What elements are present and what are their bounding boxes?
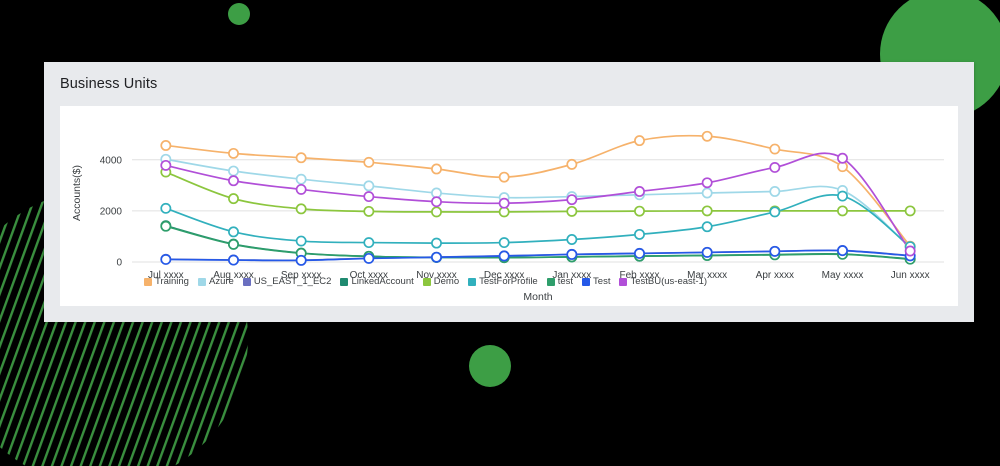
data-point-marker[interactable] xyxy=(567,207,576,216)
green-dot-top-icon xyxy=(228,3,250,25)
data-point-marker[interactable] xyxy=(297,256,306,265)
data-point-marker[interactable] xyxy=(500,199,509,208)
data-point-marker[interactable] xyxy=(770,247,779,256)
legend-label: LinkedAccount xyxy=(351,276,413,288)
data-point-marker[interactable] xyxy=(432,164,441,173)
data-point-marker[interactable] xyxy=(432,188,441,197)
legend-label: Demo xyxy=(434,276,459,288)
data-point-marker[interactable] xyxy=(161,204,170,213)
page-title: Business Units xyxy=(60,76,157,92)
legend-swatch-icon xyxy=(144,278,152,286)
legend-label: TestForProfile xyxy=(479,276,538,288)
legend-item[interactable]: LinkedAccount xyxy=(340,276,413,288)
data-point-marker[interactable] xyxy=(635,249,644,258)
series-line xyxy=(166,153,910,251)
green-dot-bottom-icon xyxy=(469,345,511,387)
data-point-marker[interactable] xyxy=(906,206,915,215)
data-point-marker[interactable] xyxy=(364,181,373,190)
legend-label: Azure xyxy=(209,276,234,288)
data-point-marker[interactable] xyxy=(635,136,644,145)
data-point-marker[interactable] xyxy=(906,246,915,255)
legend-item[interactable]: TestForProfile xyxy=(468,276,538,288)
legend-swatch-icon xyxy=(198,278,206,286)
data-point-marker[interactable] xyxy=(432,197,441,206)
series-line xyxy=(166,172,910,212)
data-point-marker[interactable] xyxy=(297,153,306,162)
legend-swatch-icon xyxy=(547,278,555,286)
series-line xyxy=(166,250,910,260)
legend-item[interactable]: US_EAST_1_EC2 xyxy=(243,276,332,288)
data-point-marker[interactable] xyxy=(770,163,779,172)
y-axis-tick-label: 2000 xyxy=(100,206,123,217)
business-units-card: Business Units 020004000Accounts($)Jul x… xyxy=(44,62,974,322)
legend-swatch-icon xyxy=(423,278,431,286)
data-point-marker[interactable] xyxy=(703,178,712,187)
data-point-marker[interactable] xyxy=(567,195,576,204)
data-point-marker[interactable] xyxy=(703,188,712,197)
data-point-marker[interactable] xyxy=(838,191,847,200)
data-point-marker[interactable] xyxy=(770,187,779,196)
data-point-marker[interactable] xyxy=(770,144,779,153)
data-point-marker[interactable] xyxy=(297,204,306,213)
data-point-marker[interactable] xyxy=(770,207,779,216)
data-point-marker[interactable] xyxy=(229,166,238,175)
legend-label: Test xyxy=(593,276,610,288)
data-point-marker[interactable] xyxy=(229,227,238,236)
data-point-marker[interactable] xyxy=(703,248,712,257)
data-point-marker[interactable] xyxy=(567,235,576,244)
legend-item[interactable]: Azure xyxy=(198,276,234,288)
data-point-marker[interactable] xyxy=(567,160,576,169)
data-point-marker[interactable] xyxy=(297,236,306,245)
legend-swatch-icon xyxy=(243,278,251,286)
legend-swatch-icon xyxy=(340,278,348,286)
data-point-marker[interactable] xyxy=(161,141,170,150)
y-axis-title: Accounts($) xyxy=(71,165,83,221)
data-point-marker[interactable] xyxy=(364,158,373,167)
y-axis-tick-label: 0 xyxy=(116,258,122,269)
data-point-marker[interactable] xyxy=(838,206,847,215)
data-point-marker[interactable] xyxy=(297,175,306,184)
x-axis-title: Month xyxy=(523,291,552,303)
data-point-marker[interactable] xyxy=(432,207,441,216)
data-point-marker[interactable] xyxy=(364,192,373,201)
data-point-marker[interactable] xyxy=(229,255,238,264)
chart-legend[interactable]: TrainingAzureUS_EAST_1_EC2LinkedAccountD… xyxy=(60,276,958,288)
data-point-marker[interactable] xyxy=(161,222,170,231)
legend-item[interactable]: test xyxy=(547,276,573,288)
data-point-marker[interactable] xyxy=(635,187,644,196)
data-point-marker[interactable] xyxy=(500,207,509,216)
data-point-marker[interactable] xyxy=(229,176,238,185)
data-point-marker[interactable] xyxy=(838,154,847,163)
data-point-marker[interactable] xyxy=(161,255,170,264)
data-point-marker[interactable] xyxy=(703,132,712,141)
legend-item[interactable]: Training xyxy=(144,276,189,288)
legend-swatch-icon xyxy=(619,278,627,286)
series-line xyxy=(166,136,910,246)
data-point-marker[interactable] xyxy=(297,185,306,194)
data-point-marker[interactable] xyxy=(567,250,576,259)
legend-item[interactable]: TestBU(us-east-1) xyxy=(619,276,707,288)
data-point-marker[interactable] xyxy=(229,194,238,203)
data-point-marker[interactable] xyxy=(703,222,712,231)
legend-item[interactable]: Demo xyxy=(423,276,459,288)
legend-item[interactable]: Test xyxy=(582,276,610,288)
data-point-marker[interactable] xyxy=(364,254,373,263)
y-axis-tick-label: 4000 xyxy=(100,155,123,166)
legend-swatch-icon xyxy=(468,278,476,286)
data-point-marker[interactable] xyxy=(703,206,712,215)
legend-label: TestBU(us-east-1) xyxy=(630,276,707,288)
data-point-marker[interactable] xyxy=(500,251,509,260)
data-point-marker[interactable] xyxy=(500,238,509,247)
data-point-marker[interactable] xyxy=(364,207,373,216)
data-point-marker[interactable] xyxy=(432,238,441,247)
data-point-marker[interactable] xyxy=(635,207,644,216)
legend-swatch-icon xyxy=(582,278,590,286)
data-point-marker[interactable] xyxy=(635,230,644,239)
legend-label: US_EAST_1_EC2 xyxy=(254,276,332,288)
data-point-marker[interactable] xyxy=(432,253,441,262)
data-point-marker[interactable] xyxy=(500,173,509,182)
data-point-marker[interactable] xyxy=(838,246,847,255)
data-point-marker[interactable] xyxy=(229,149,238,158)
data-point-marker[interactable] xyxy=(161,161,170,170)
legend-label: Training xyxy=(155,276,189,288)
data-point-marker[interactable] xyxy=(364,238,373,247)
legend-label: test xyxy=(558,276,573,288)
data-point-marker[interactable] xyxy=(229,240,238,249)
